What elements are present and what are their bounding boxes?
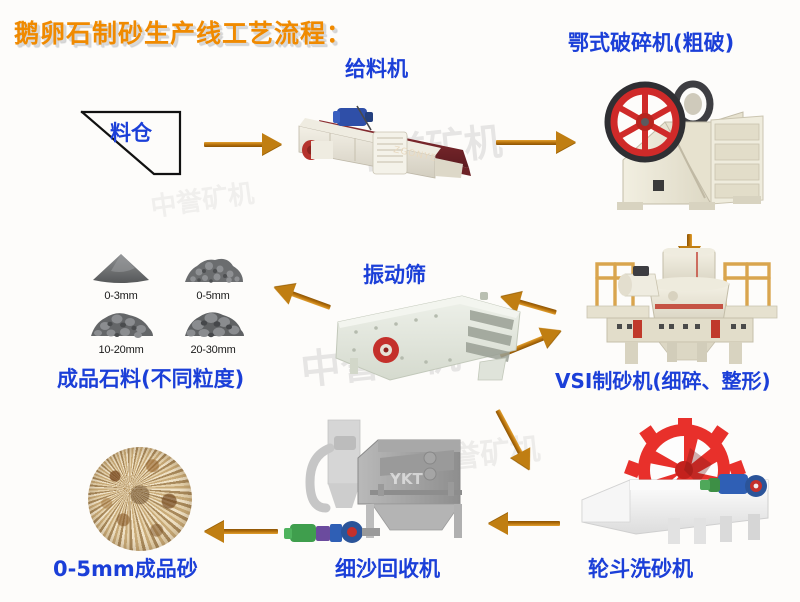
jaw-crusher-icon bbox=[593, 72, 793, 217]
fine-sand-recycler-icon: YKT bbox=[282, 412, 480, 547]
flowchart-canvas: 鹅卵石制砂生产线工艺流程： 中誉矿机 中誉矿机 中誉矿机 中誉矿机 料仓 给料机 bbox=[0, 0, 800, 602]
screen-label: 振动筛 bbox=[363, 264, 426, 287]
vsi-sand-maker-icon bbox=[563, 248, 795, 368]
feeder-label: 给料机 bbox=[345, 58, 408, 81]
products-label: 成品石料(不同粒度) bbox=[57, 368, 244, 391]
aggregate-piles-icon: 0-3mm 0-5mm bbox=[78, 252, 258, 356]
vibrating-screen-icon bbox=[330, 288, 530, 388]
sample-size: 20-30mm bbox=[170, 344, 256, 356]
arrow-washer-to-recycler bbox=[480, 512, 560, 536]
sample-size: 10-20mm bbox=[78, 344, 164, 356]
sand-sample-icon bbox=[88, 447, 192, 551]
page-title: 鹅卵石制砂生产线工艺流程： bbox=[14, 14, 352, 50]
vsi-label: VSI制砂机(细碎、整形) bbox=[555, 370, 771, 392]
arrow-screen-to-washer bbox=[487, 404, 541, 477]
silo-label: 料仓 bbox=[110, 122, 152, 145]
arrow-feeder-to-jaw bbox=[496, 130, 582, 154]
sample-cell: 0-5mm bbox=[170, 252, 256, 302]
finished-sand-label: 0-5mm成品砂 bbox=[53, 558, 198, 581]
jaw-crusher-label: 鄂式破碎机(粗破) bbox=[568, 32, 734, 55]
recycler-label: 细沙回收机 bbox=[335, 558, 440, 581]
sample-size: 0-5mm bbox=[170, 290, 256, 302]
svg-text:YKT: YKT bbox=[389, 470, 423, 488]
sample-cell: 0-3mm bbox=[78, 252, 164, 302]
sample-size: 0-3mm bbox=[78, 290, 164, 302]
arrow-silo-to-feeder bbox=[204, 132, 282, 156]
arrow-screen-to-products bbox=[260, 273, 334, 319]
arrow-recycler-to-sand bbox=[198, 520, 278, 544]
sample-cell: 20-30mm bbox=[170, 306, 256, 356]
vibrating-feeder-icon: ZGONYE bbox=[285, 96, 475, 184]
bucket-wheel-washer-icon bbox=[572, 418, 797, 546]
sample-cell: 10-20mm bbox=[78, 306, 164, 356]
washer-label: 轮斗洗砂机 bbox=[588, 558, 693, 581]
